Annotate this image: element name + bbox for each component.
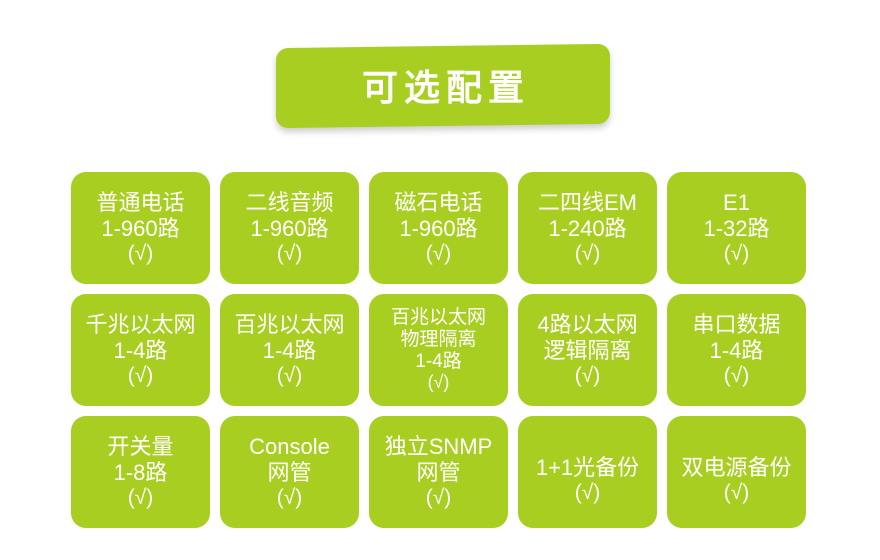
option-tile-fast-ethernet-physical-isolation[interactable]: 百兆以太网物理隔离1-4路(√) bbox=[369, 294, 508, 406]
page-header-banner: 可选配置 bbox=[276, 46, 610, 126]
check-mark-icon: (√) bbox=[277, 364, 303, 389]
check-mark-icon: (√) bbox=[426, 486, 452, 511]
check-mark-icon: (√) bbox=[128, 364, 154, 389]
option-tile-line: 网管 bbox=[416, 460, 460, 486]
option-tile-line: 1-4路 bbox=[415, 351, 461, 373]
option-tile-four-port-ethernet-logical-isolation[interactable]: 4路以太网逻辑隔离(√) bbox=[518, 294, 657, 406]
option-tile-console-management[interactable]: Console网管(√) bbox=[220, 416, 359, 528]
check-mark-icon: (√) bbox=[724, 481, 750, 506]
option-tile-line: 磁石电话 bbox=[394, 190, 482, 216]
option-tile-two-wire-audio[interactable]: 二线音频1-960路(√) bbox=[220, 172, 359, 284]
option-tile-line: 物理隔离 bbox=[400, 329, 476, 351]
check-mark-icon: (√) bbox=[277, 242, 303, 267]
option-tile-line: 1-960路 bbox=[250, 216, 328, 242]
option-tile-independent-snmp-management[interactable]: 独立SNMP网管(√) bbox=[369, 416, 508, 528]
option-tile-line: 1-4路 bbox=[710, 338, 764, 364]
option-tile-line: 串口数据 bbox=[692, 312, 780, 338]
option-tile-line: 二线音频 bbox=[245, 190, 333, 216]
page-title: 可选配置 bbox=[276, 46, 610, 126]
option-tile-line: 1-960路 bbox=[101, 216, 179, 242]
option-tile-line: 网管 bbox=[267, 460, 311, 486]
option-tile-line: 1-4路 bbox=[263, 338, 317, 364]
option-tile-line: 百兆以太网 bbox=[234, 312, 344, 338]
option-tile-line: 1+1光备份 bbox=[536, 455, 639, 481]
option-tile-line: 1-240路 bbox=[548, 216, 626, 242]
option-tile-fast-ethernet[interactable]: 百兆以太网1-4路(√) bbox=[220, 294, 359, 406]
check-mark-icon: (√) bbox=[128, 242, 154, 267]
option-tile-line: E1 bbox=[723, 190, 750, 216]
check-mark-icon: (√) bbox=[724, 242, 750, 267]
option-tile-dual-power-backup[interactable]: 双电源备份(√) bbox=[667, 416, 806, 528]
option-tile-serial-data[interactable]: 串口数据1-4路(√) bbox=[667, 294, 806, 406]
option-tile-line: 1-8路 bbox=[114, 460, 168, 486]
option-tile-line: Console bbox=[249, 434, 330, 460]
option-tile-line: 逻辑隔离 bbox=[543, 338, 631, 364]
check-mark-icon: (√) bbox=[724, 364, 750, 389]
option-tile-line: 开关量 bbox=[107, 434, 173, 460]
check-mark-icon: (√) bbox=[426, 242, 452, 267]
option-tile-switch-quantity[interactable]: 开关量1-8路(√) bbox=[71, 416, 210, 528]
option-tile-line: 独立SNMP bbox=[385, 434, 493, 460]
check-mark-icon: (√) bbox=[428, 372, 450, 393]
option-tile-line: 千兆以太网 bbox=[85, 312, 195, 338]
check-mark-icon: (√) bbox=[128, 486, 154, 511]
option-tile-line: 4路以太网 bbox=[537, 312, 637, 338]
option-tile-one-plus-one-optical-backup[interactable]: 1+1光备份(√) bbox=[518, 416, 657, 528]
option-tile-two-four-wire-em[interactable]: 二四线EM1-240路(√) bbox=[518, 172, 657, 284]
optional-configuration-grid: 普通电话1-960路(√)二线音频1-960路(√)磁石电话1-960路(√)二… bbox=[71, 172, 808, 528]
check-mark-icon: (√) bbox=[277, 486, 303, 511]
option-tile-line: 百兆以太网 bbox=[391, 307, 486, 329]
option-tile-line: 二四线EM bbox=[538, 190, 637, 216]
option-tile-line: 1-4路 bbox=[114, 338, 168, 364]
option-tile-line: 双电源备份 bbox=[681, 455, 791, 481]
option-tile-line: 1-32路 bbox=[703, 216, 769, 242]
option-tile-gigabit-ethernet[interactable]: 千兆以太网1-4路(√) bbox=[71, 294, 210, 406]
check-mark-icon: (√) bbox=[575, 364, 601, 389]
option-tile-e1[interactable]: E11-32路(√) bbox=[667, 172, 806, 284]
option-tile-magneto-telephone[interactable]: 磁石电话1-960路(√) bbox=[369, 172, 508, 284]
check-mark-icon: (√) bbox=[575, 242, 601, 267]
check-mark-icon: (√) bbox=[575, 481, 601, 506]
option-tile-line: 普通电话 bbox=[96, 190, 184, 216]
option-tile-ordinary-telephone[interactable]: 普通电话1-960路(√) bbox=[71, 172, 210, 284]
option-tile-line: 1-960路 bbox=[399, 216, 477, 242]
